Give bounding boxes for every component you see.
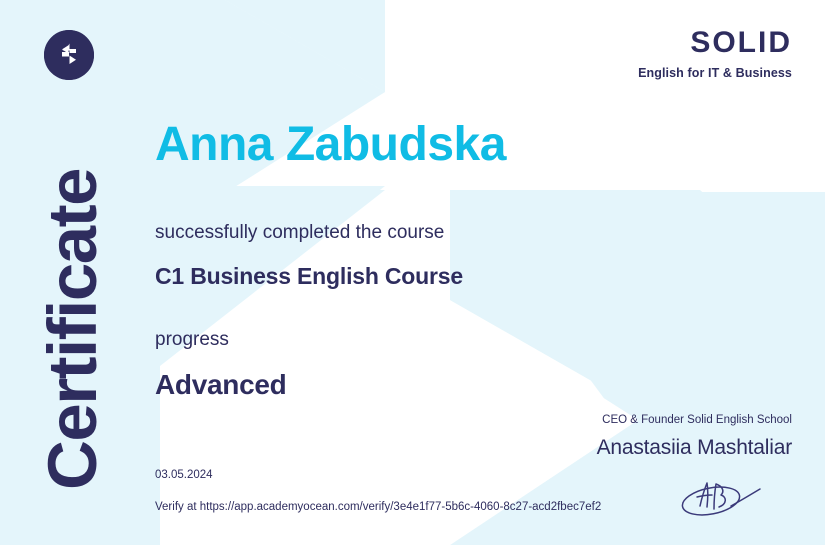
- issue-date: 03.05.2024: [155, 469, 213, 483]
- signatory-name: Anastasiia Mashtaliar: [597, 435, 792, 460]
- recipient-name: Anna Zabudska: [155, 119, 506, 172]
- solid-code-mark-icon: [44, 30, 94, 80]
- completed-label: successfully completed the course: [155, 222, 444, 245]
- course-name: C1 Business English Course: [155, 263, 463, 291]
- verify-link[interactable]: Verify at https://app.academyocean.com/v…: [155, 501, 601, 515]
- signatory-role: CEO & Founder Solid English School: [597, 414, 792, 428]
- progress-label: progress: [155, 329, 229, 352]
- brand-name: SOLID: [638, 28, 792, 58]
- handwritten-signature-icon: [674, 476, 764, 524]
- signature-block: CEO & Founder Solid English School Anast…: [597, 414, 792, 460]
- brand-tagline: English for IT & Business: [638, 67, 792, 80]
- vertical-certificate-title: Certificate: [38, 110, 108, 490]
- progress-level: Advanced: [155, 368, 286, 402]
- certificate-page: Certificate SOLID English for IT & Busin…: [0, 0, 825, 545]
- vertical-title-text: Certificate: [38, 110, 108, 490]
- certificate-content: Anna Zabudska successfully completed the…: [155, 0, 775, 545]
- brand-logo: SOLID English for IT & Business: [638, 28, 792, 80]
